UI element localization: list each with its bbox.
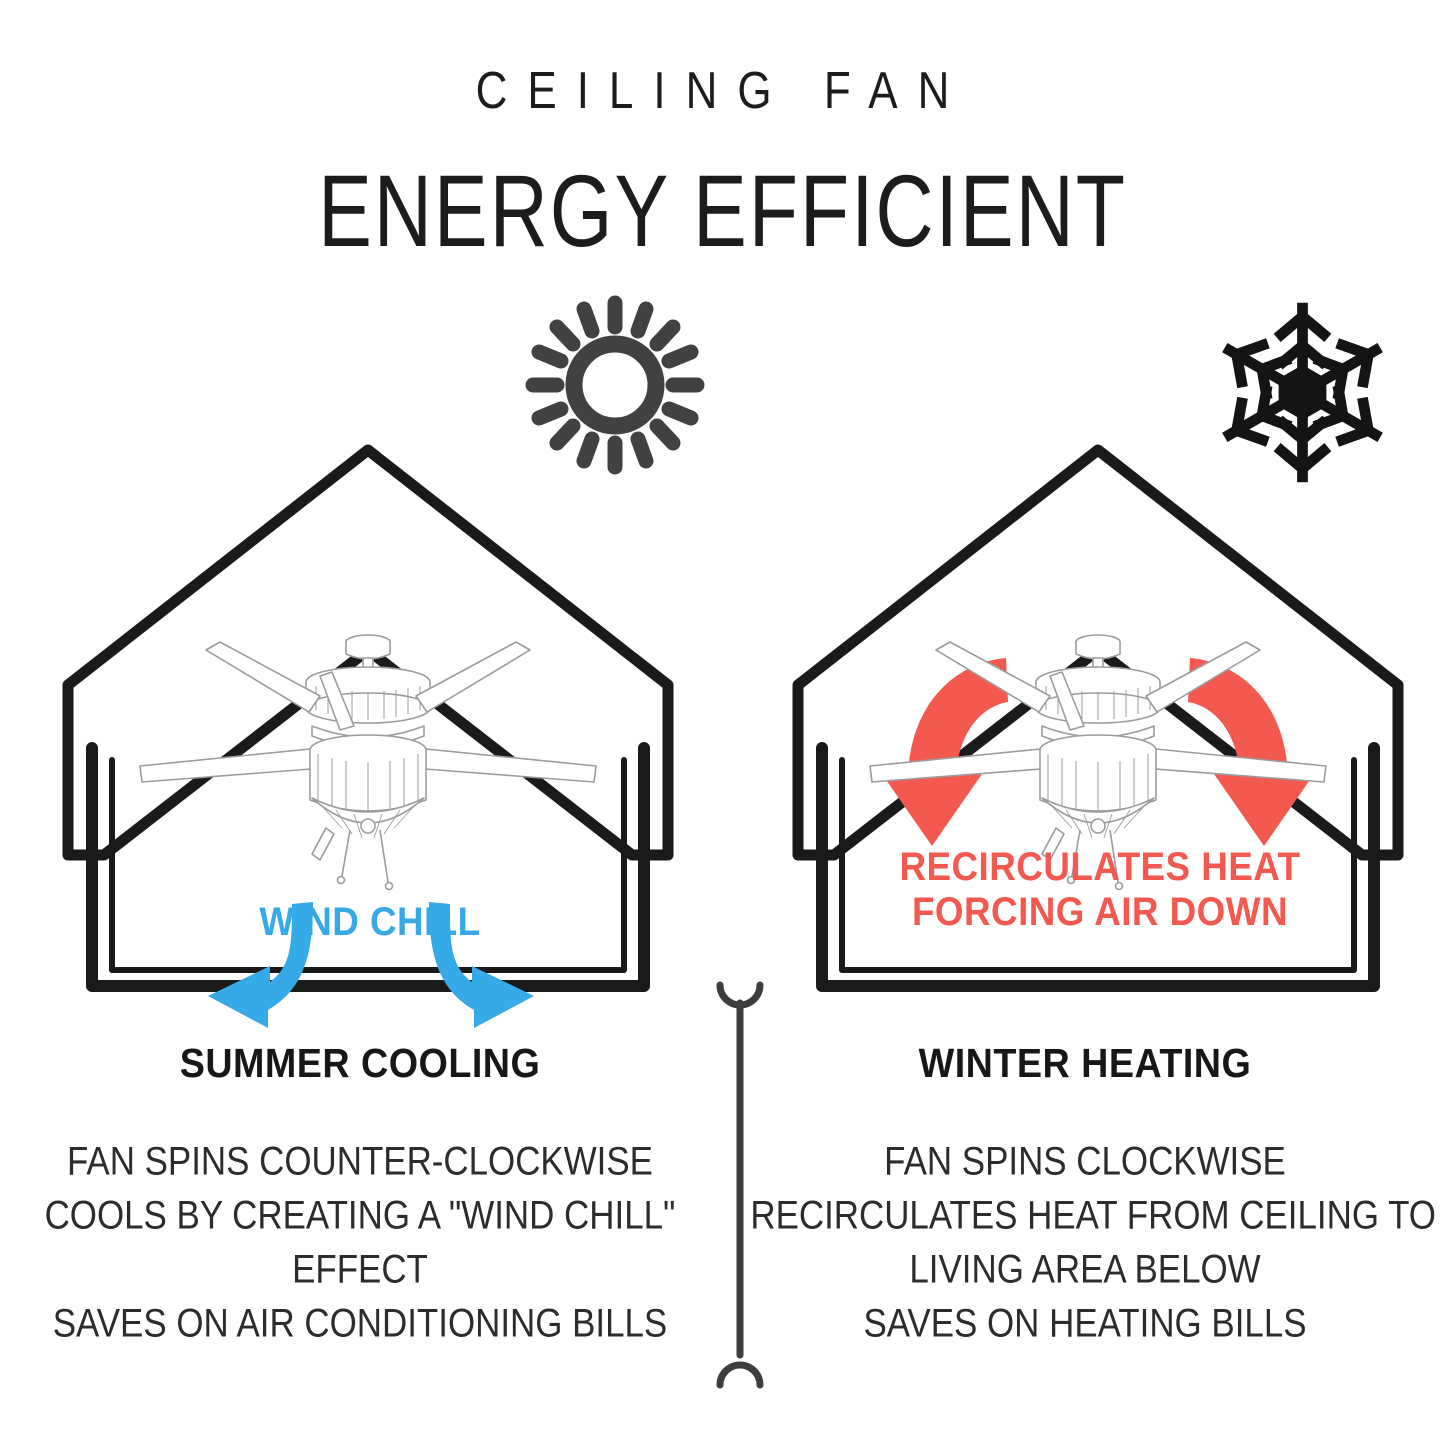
header: CEILING FAN ENERGY EFFICIENT xyxy=(0,0,1445,249)
house-outline-icon xyxy=(750,430,1445,1030)
summer-body-line-4: SAVES ON AIR CONDITIONING BILLS xyxy=(25,1297,694,1351)
summer-body-line-2: COOLS BY CREATING A "WIND CHILL" xyxy=(25,1189,694,1243)
infographic-canvas: CEILING FAN ENERGY EFFICIENT xyxy=(0,0,1445,1445)
summer-body: FAN SPINS COUNTER-CLOCKWISE COOLS BY CRE… xyxy=(25,1135,694,1350)
winter-callout-line-1: RECIRCULATES HEAT xyxy=(778,845,1422,890)
summer-body-line-3: EFFECT xyxy=(25,1243,694,1297)
winter-heading: WINTER HEATING xyxy=(768,1040,1403,1087)
page-kicker: CEILING FAN xyxy=(0,62,1445,121)
winter-panel: RECIRCULATES HEAT FORCING AIR DOWN xyxy=(750,430,1445,1030)
summer-body-line-1: FAN SPINS COUNTER-CLOCKWISE xyxy=(25,1135,694,1189)
summer-text-column: SUMMER COOLING FAN SPINS COUNTER-CLOCKWI… xyxy=(15,1040,705,1331)
winter-body-line-4: SAVES ON HEATING BILLS xyxy=(750,1297,1419,1351)
summer-panel: WIND CHILL xyxy=(20,430,720,1030)
summer-callout-line-1: WIND CHILL xyxy=(48,900,692,945)
winter-body-line-2: RECIRCULATES HEAT FROM CEILING TO xyxy=(750,1189,1419,1243)
winter-body-line-1: FAN SPINS CLOCKWISE xyxy=(750,1135,1419,1189)
winter-callout: RECIRCULATES HEAT FORCING AIR DOWN xyxy=(778,845,1422,935)
summer-heading: SUMMER COOLING xyxy=(43,1040,678,1087)
winter-body: FAN SPINS CLOCKWISE RECIRCULATES HEAT FR… xyxy=(750,1135,1419,1350)
page-title: ENERGY EFFICIENT xyxy=(29,152,1416,270)
winter-text-column: WINTER HEATING FAN SPINS CLOCKWISE RECIR… xyxy=(740,1040,1430,1331)
ceiling-fan-icon xyxy=(140,635,596,890)
winter-body-line-3: LIVING AREA BELOW xyxy=(750,1243,1419,1297)
winter-callout-line-2: FORCING AIR DOWN xyxy=(778,890,1422,935)
summer-callout: WIND CHILL xyxy=(48,900,692,945)
